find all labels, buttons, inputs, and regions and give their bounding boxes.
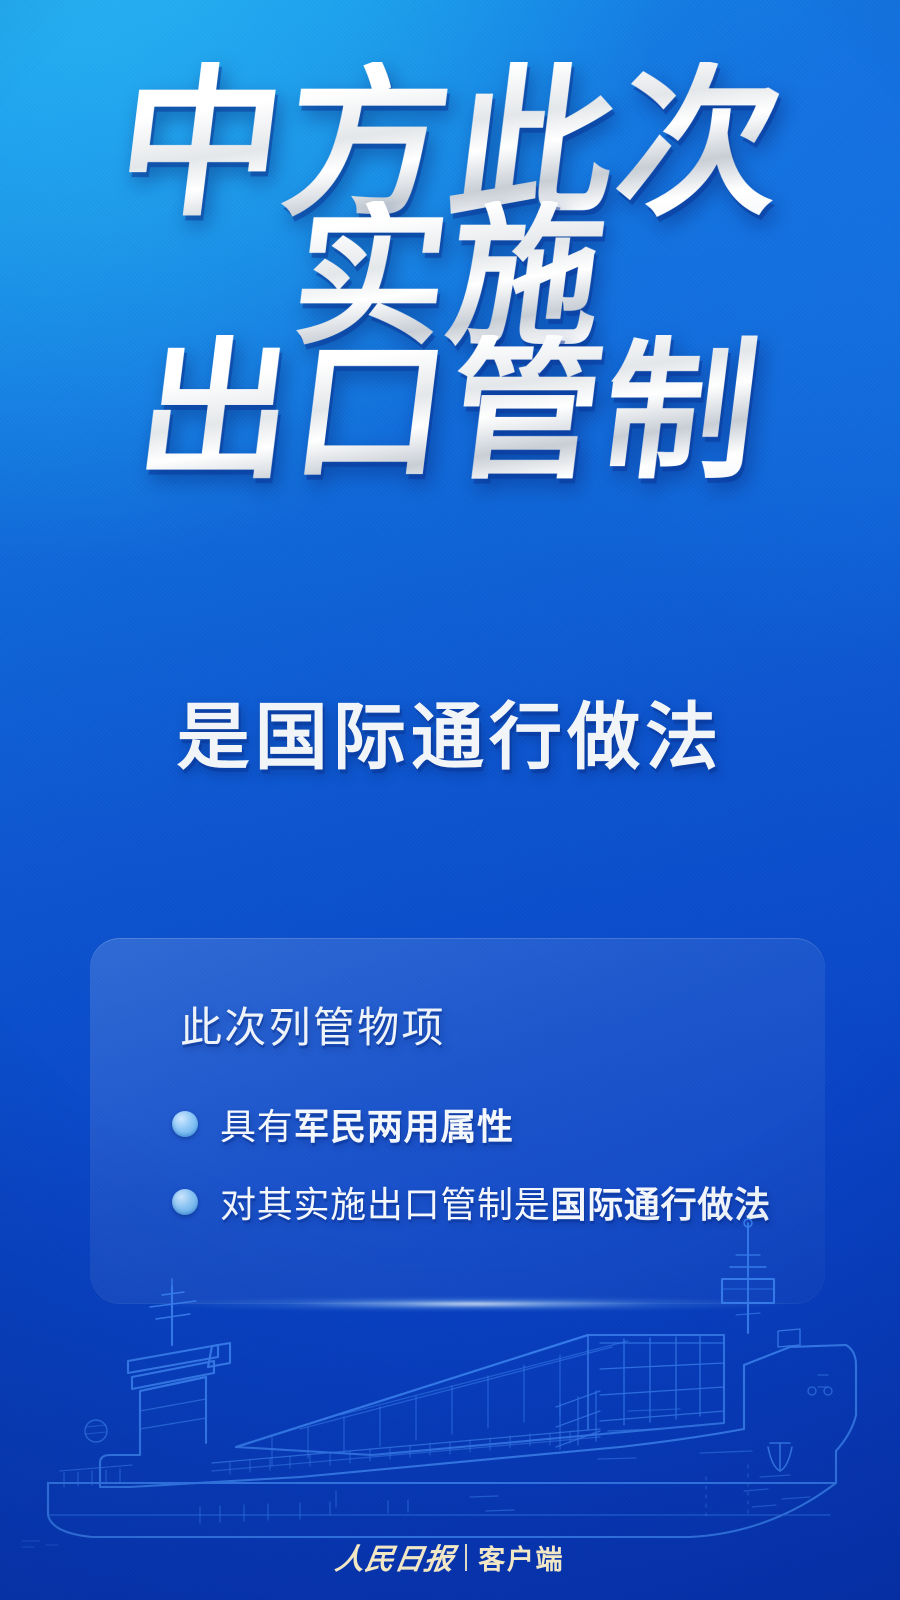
bullet-prefix-1: 具有 bbox=[220, 1106, 293, 1147]
bullet-dot-icon bbox=[172, 1111, 198, 1137]
bullet-prefix-2: 对其实施出口管制是 bbox=[220, 1184, 550, 1225]
bullet-emphasis-1: 军民两用属性 bbox=[293, 1106, 513, 1147]
headline: 中方此次 实施 出口管制 bbox=[0, 62, 900, 487]
list-item: 对其实施出口管制是国际通行做法 bbox=[172, 1176, 771, 1228]
logo-divider bbox=[465, 1544, 467, 1571]
footer-logo: 人民日报 客户端 bbox=[0, 1536, 900, 1578]
peoples-daily-wordmark: 人民日报 bbox=[333, 1536, 458, 1578]
list-item: 具有军民两用属性 bbox=[172, 1098, 771, 1150]
subtitle: 是国际通行做法 bbox=[0, 678, 900, 784]
app-name-label: 客户端 bbox=[478, 1538, 564, 1577]
bullet-list: 具有军民两用属性 对其实施出口管制是国际通行做法 bbox=[172, 1098, 771, 1254]
card-title: 此次列管物项 bbox=[180, 994, 446, 1055]
bullet-text-2: 对其实施出口管制是国际通行做法 bbox=[220, 1176, 771, 1228]
bullet-dot-icon bbox=[172, 1189, 198, 1215]
bullet-emphasis-2: 国际通行做法 bbox=[550, 1184, 770, 1225]
headline-line-3: 出口管制 bbox=[0, 335, 900, 487]
bullet-text-1: 具有军民两用属性 bbox=[220, 1098, 514, 1150]
poster: 中方此次 实施 出口管制 是国际通行做法 此次列管物项 具有军民两用属性 对其实… bbox=[0, 0, 900, 1600]
